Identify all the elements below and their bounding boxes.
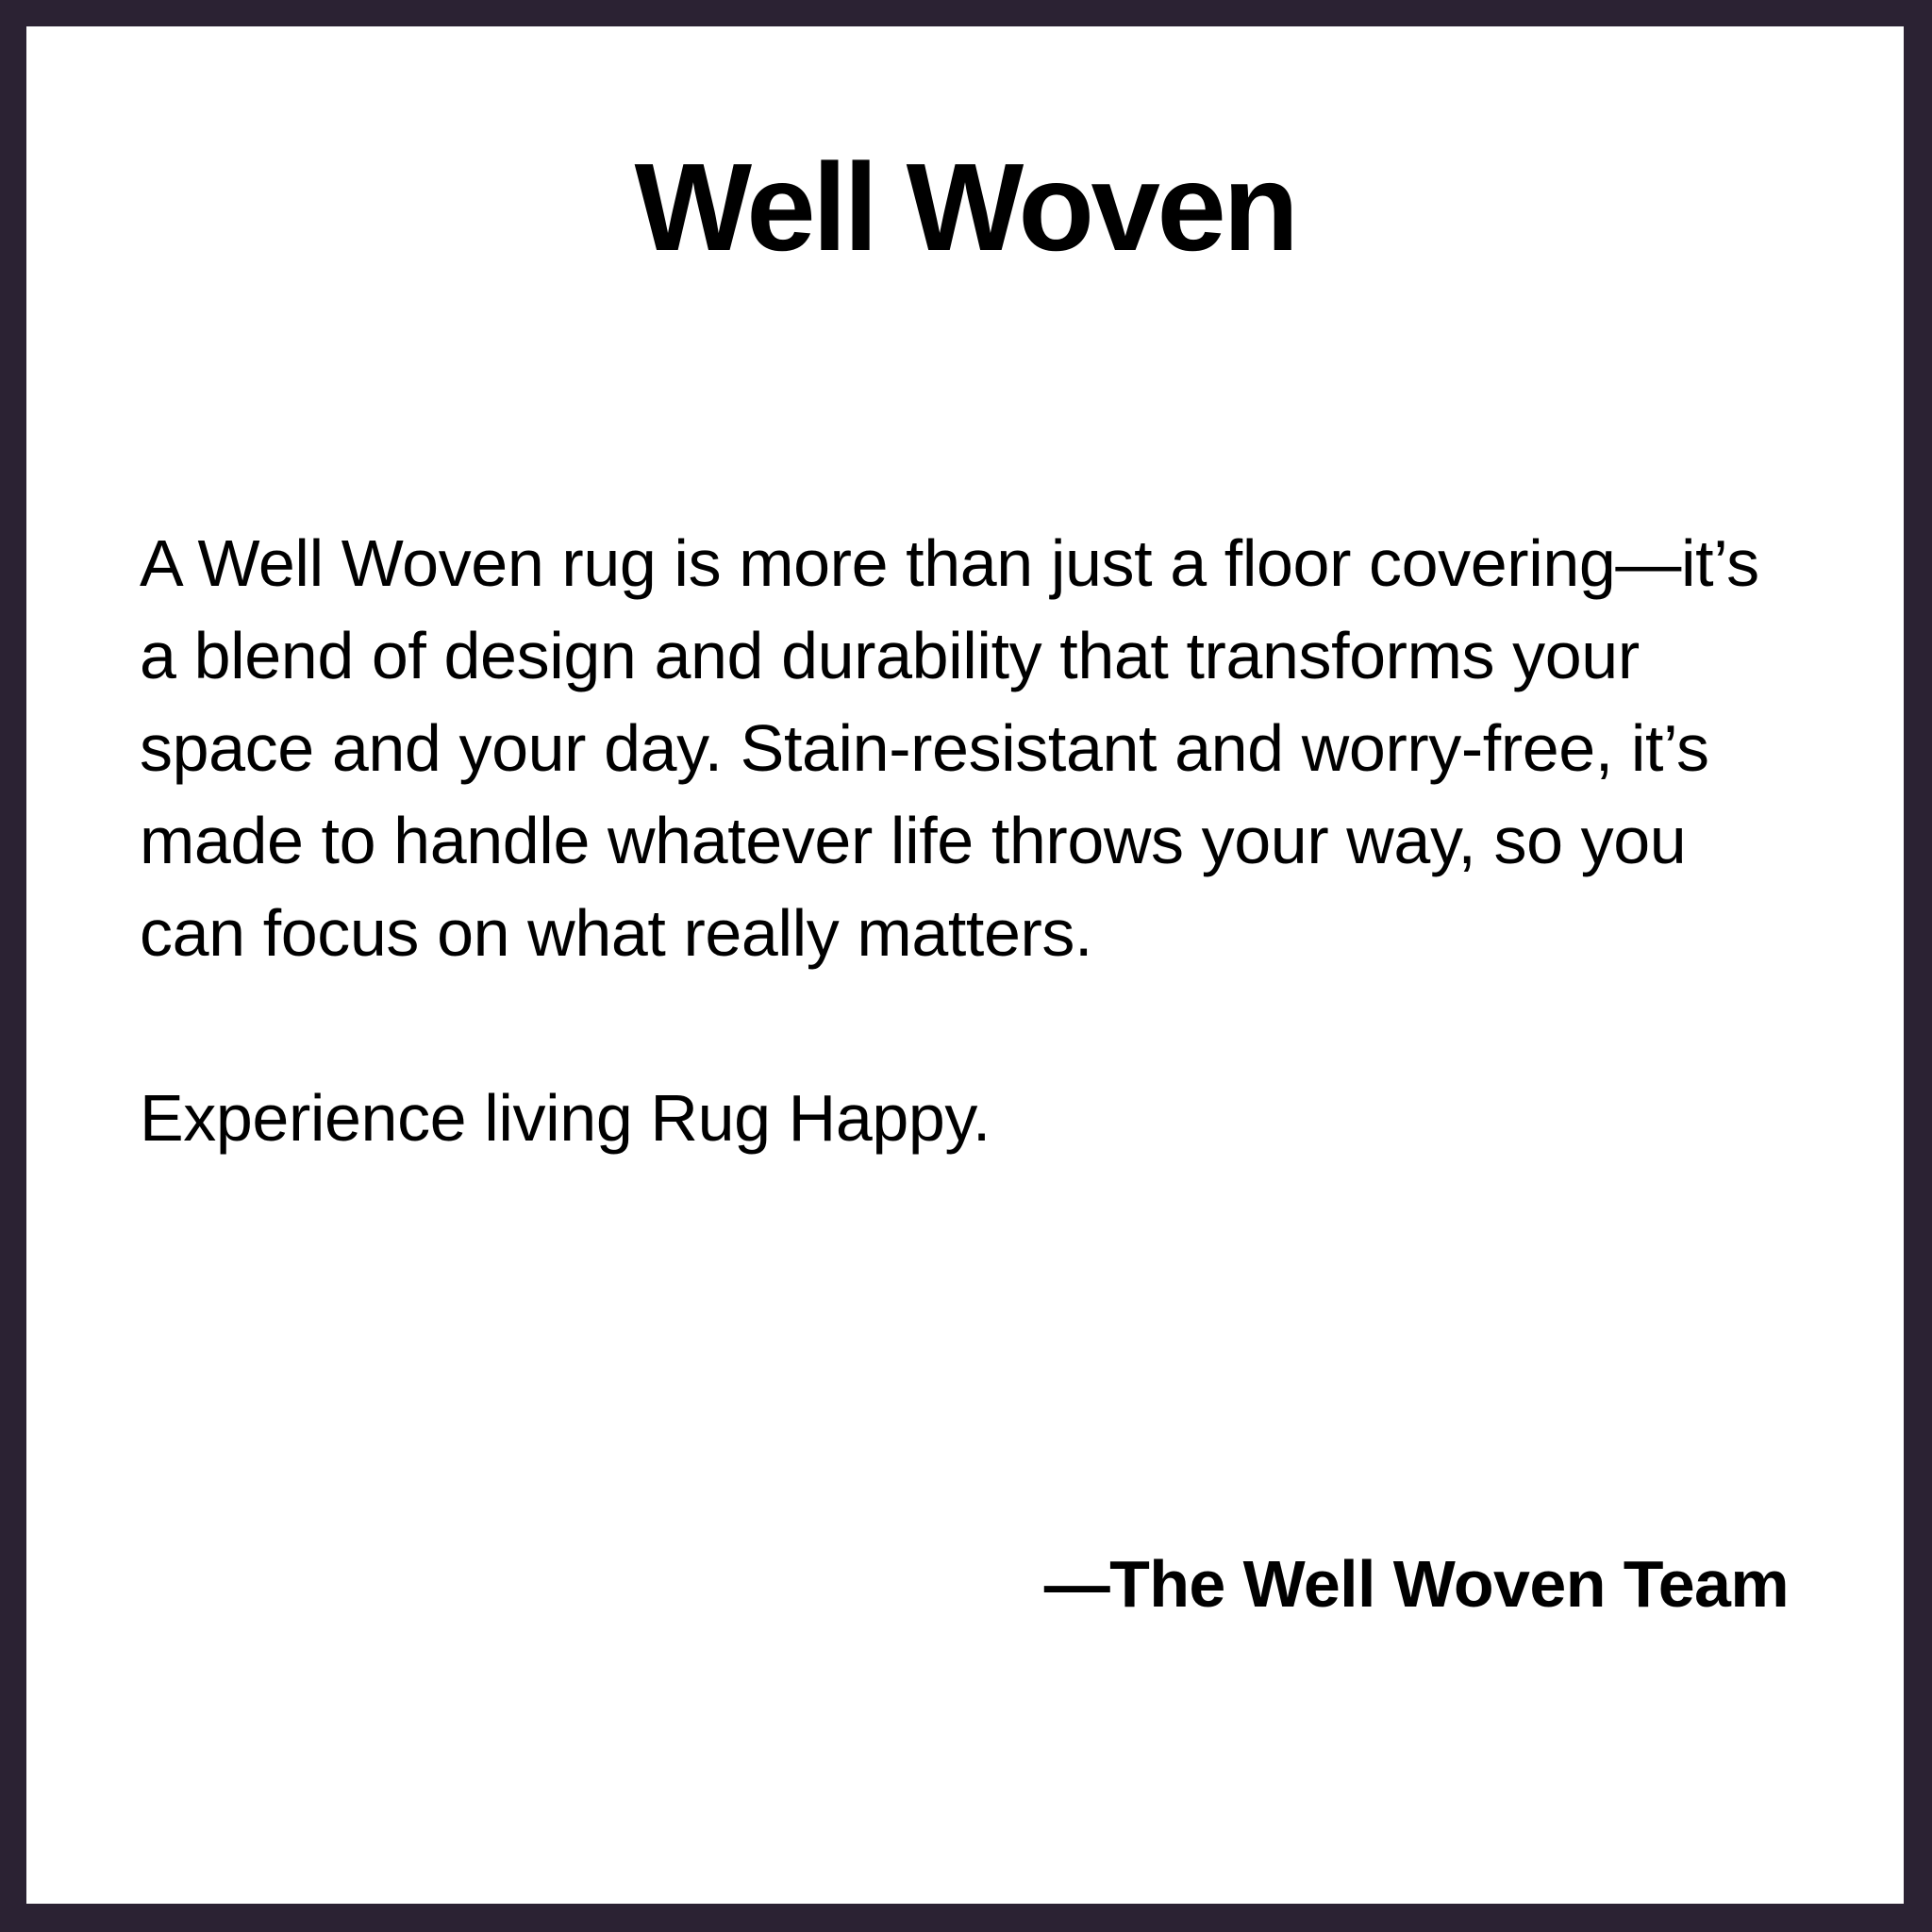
page-border-frame: Well Woven A Well Woven rug is more than…: [0, 0, 1932, 1932]
signoff-line: —The Well Woven Team: [140, 1538, 1789, 1630]
message-body: A Well Woven rug is more than just a flo…: [140, 517, 1790, 1164]
body-paragraph-primary: A Well Woven rug is more than just a flo…: [140, 517, 1790, 979]
paragraph-spacer: [140, 979, 1790, 1072]
body-paragraph-tagline: Experience living Rug Happy.: [140, 1072, 1790, 1164]
message-card: Well Woven A Well Woven rug is more than…: [26, 26, 1904, 1904]
page-title: Well Woven: [26, 138, 1904, 277]
